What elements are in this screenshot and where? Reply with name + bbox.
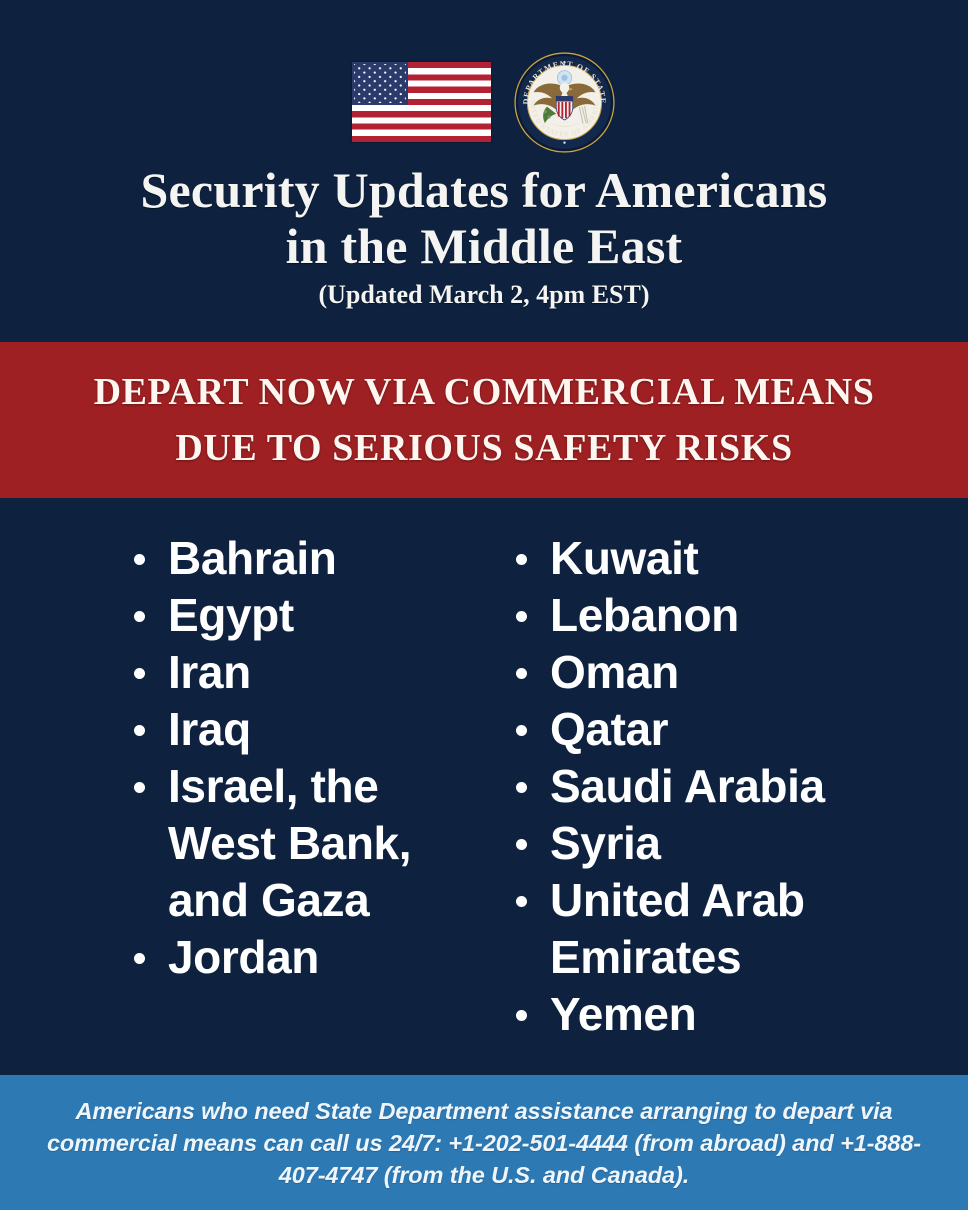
list-item: Kuwait	[494, 530, 874, 587]
list-item: Syria	[494, 815, 874, 872]
country-name: Israel, the West Bank, and Gaza	[168, 760, 411, 926]
country-column-left: Bahrain Egypt Iran Iraq Israel, the West…	[94, 530, 484, 1075]
flag-stars	[354, 64, 406, 103]
list-item: Jordan	[112, 929, 484, 986]
country-name: Egypt	[168, 589, 294, 641]
country-name: Lebanon	[550, 589, 739, 641]
bullet-icon	[516, 1010, 527, 1021]
updated-timestamp: (Updated March 2, 4pm EST)	[0, 278, 968, 312]
bullet-icon	[134, 953, 145, 964]
list-item: Egypt	[112, 587, 484, 644]
bullet-icon	[516, 554, 527, 565]
country-list-left: Bahrain Egypt Iran Iraq Israel, the West…	[112, 530, 484, 986]
bullet-icon	[134, 782, 145, 793]
bullet-icon	[516, 896, 527, 907]
poster-header: DEPARTMENT OF STATE UNITED STATES OF AME…	[0, 0, 968, 342]
security-update-poster: DEPARTMENT OF STATE UNITED STATES OF AME…	[0, 0, 968, 1210]
list-item: Iraq	[112, 701, 484, 758]
bullet-icon	[134, 725, 145, 736]
bullet-icon	[516, 782, 527, 793]
department-of-state-seal-icon: DEPARTMENT OF STATE UNITED STATES OF AME…	[513, 51, 616, 154]
country-list-right: Kuwait Lebanon Oman Qatar Saudi Arabia	[494, 530, 874, 1043]
bullet-icon	[516, 839, 527, 850]
list-item: Yemen	[494, 986, 874, 1043]
country-name: Bahrain	[168, 532, 336, 584]
assistance-text: Americans who need State Department assi…	[46, 1095, 922, 1191]
emblem-row: DEPARTMENT OF STATE UNITED STATES OF AME…	[0, 48, 968, 156]
list-item: Lebanon	[494, 587, 874, 644]
alert-line-1: DEPART NOW VIA COMMERCIAL MEANS	[94, 364, 875, 420]
alert-line-2: DUE TO SERIOUS SAFETY RISKS	[175, 420, 792, 476]
country-name: Iran	[168, 646, 251, 698]
poster-title-block: Security Updates for Americans in the Mi…	[0, 162, 968, 312]
country-name: Saudi Arabia	[550, 760, 825, 812]
country-name: United Arab Emirates	[550, 874, 805, 983]
country-name: Syria	[550, 817, 661, 869]
country-column-right: Kuwait Lebanon Oman Qatar Saudi Arabia	[484, 530, 874, 1075]
bullet-icon	[516, 668, 527, 679]
bullet-icon	[134, 668, 145, 679]
country-lists: Bahrain Egypt Iran Iraq Israel, the West…	[0, 498, 968, 1075]
list-item: Qatar	[494, 701, 874, 758]
bullet-icon	[516, 611, 527, 622]
list-item: Israel, the West Bank, and Gaza	[112, 758, 484, 929]
country-name: Iraq	[168, 703, 251, 755]
bullet-icon	[516, 725, 527, 736]
page-title-line-2: in the Middle East	[0, 218, 968, 274]
list-item: Bahrain	[112, 530, 484, 587]
country-name: Kuwait	[550, 532, 698, 584]
bullet-icon	[134, 611, 145, 622]
country-name: Yemen	[550, 988, 696, 1040]
bullet-icon	[134, 554, 145, 565]
list-item: Iran	[112, 644, 484, 701]
flag-canton	[352, 62, 408, 105]
alert-banner: DEPART NOW VIA COMMERCIAL MEANS DUE TO S…	[0, 342, 968, 498]
us-flag-icon	[352, 62, 491, 142]
list-item: United Arab Emirates	[494, 872, 874, 986]
country-name: Oman	[550, 646, 679, 698]
country-name: Qatar	[550, 703, 668, 755]
list-item: Saudi Arabia	[494, 758, 874, 815]
assistance-footer: Americans who need State Department assi…	[0, 1075, 968, 1210]
page-title-line-1: Security Updates for Americans	[0, 162, 968, 218]
country-name: Jordan	[168, 931, 319, 983]
list-item: Oman	[494, 644, 874, 701]
